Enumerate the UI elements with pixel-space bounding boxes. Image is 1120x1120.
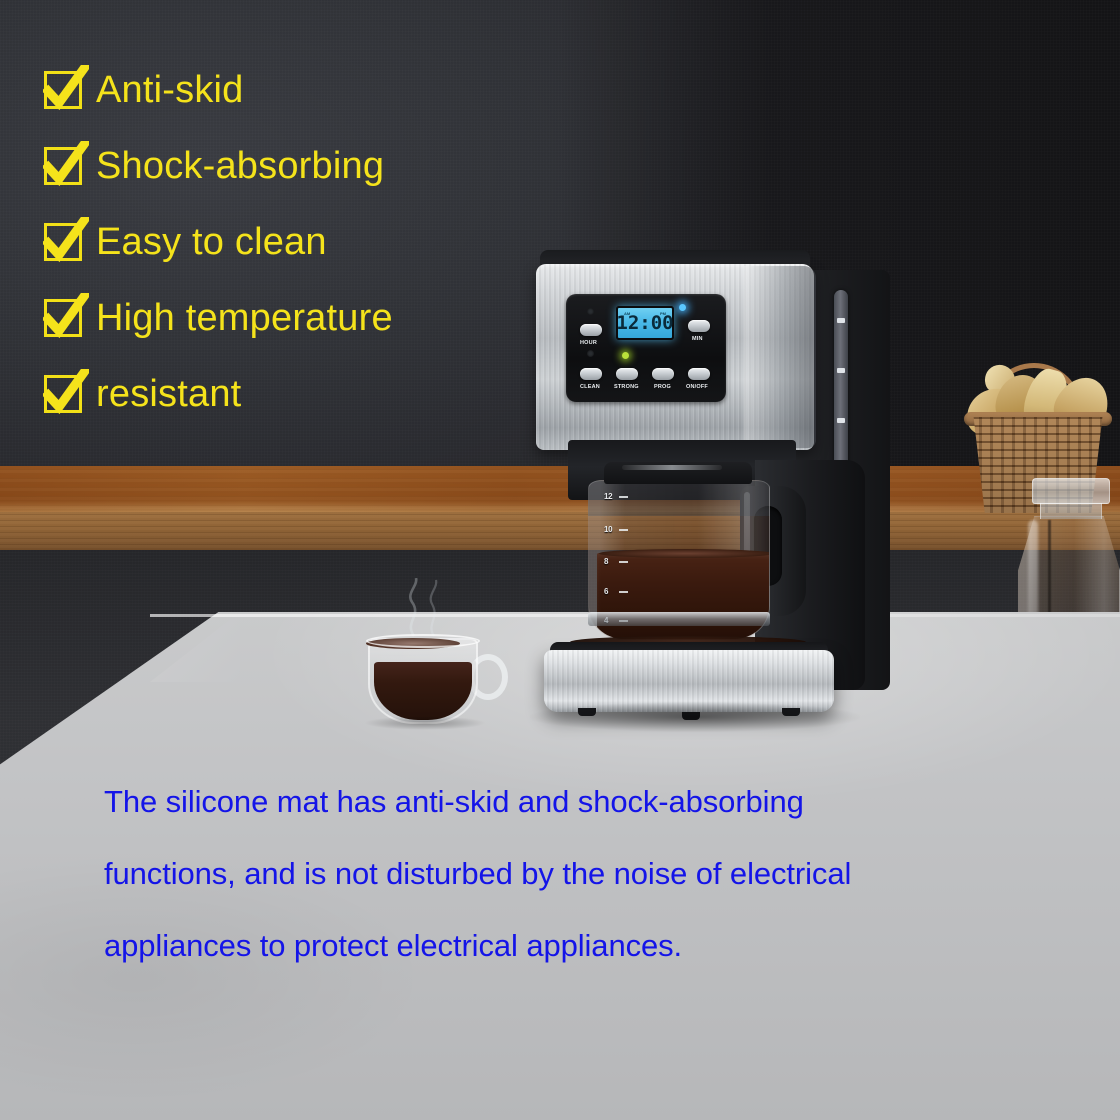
checkmark-icon[interactable] [44,223,82,261]
caption-line: appliances to protect electrical applian… [104,930,1104,961]
caption-line: The silicone mat has anti-skid and shock… [104,786,1104,817]
product-image-scene: AM PM 12:00 HOUR MIN CLEAN STRONG PROG O… [0,0,1120,1120]
feature-item[interactable]: resistant [44,356,514,432]
steam-icon [386,578,466,638]
feature-label: Shock-absorbing [96,147,384,185]
machine-head-side [744,266,816,448]
feature-label: Easy to clean [96,223,327,261]
lcd-time-value: 12:00 [616,314,673,333]
prog-button-label: PROG [654,384,671,390]
min-button[interactable] [688,320,710,332]
prog-button[interactable] [652,368,674,380]
gauge-tick [837,368,845,373]
feature-item[interactable]: High temperature [44,280,514,356]
checkmark-icon[interactable] [44,71,82,109]
feature-item[interactable]: Shock-absorbing [44,128,514,204]
gauge-tick [837,418,845,423]
carafe-mark-8: 8 [604,557,608,566]
hour-button-label: HOUR [580,340,597,346]
cup-shadow [364,716,486,730]
feature-label: resistant [96,375,241,413]
description-caption: The silicone mat has anti-skid and shock… [104,786,1104,1002]
cup-coffee [374,662,472,720]
checkmark-icon[interactable] [44,147,82,185]
cup-rim [366,634,480,648]
cup-glass-body [368,638,478,724]
carafe-mark-10: 10 [604,525,612,534]
coffee-cup[interactable] [360,620,510,730]
jar-lid [1032,478,1110,504]
clean-indicator-led [587,350,594,357]
strong-led [622,352,629,359]
lcd-display: AM PM 12:00 [616,306,674,340]
onoff-button-label: ON/OFF [686,384,708,390]
carafe-tick [619,591,628,593]
lcd-am-label: AM [624,311,630,316]
feature-item[interactable]: Easy to clean [44,204,514,280]
carafe-level-markings: 12 10 8 6 4 [604,492,630,632]
clean-button[interactable] [580,368,602,380]
feature-label: High temperature [96,299,393,337]
hour-button[interactable] [580,324,602,336]
onoff-button[interactable] [688,368,710,380]
carafe-tick [619,529,628,531]
power-led [679,304,686,311]
clean-button-label: CLEAN [580,384,600,390]
carafe-lid-highlight [622,465,722,470]
carafe-tick [619,496,628,498]
checkmark-icon[interactable] [44,375,82,413]
caption-line: functions, and is not disturbed by the n… [104,858,1104,889]
jar-neck [1040,503,1102,519]
control-panel: AM PM 12:00 HOUR MIN CLEAN STRONG PROG O… [566,294,726,402]
carafe-base-ring [588,612,770,626]
hour-indicator-led [587,308,594,315]
strong-button[interactable] [616,368,638,380]
feature-checklist: Anti-skid Shock-absorbing Easy to clean … [44,52,514,432]
carafe-mark-12: 12 [604,492,612,501]
carafe-tick [619,561,628,563]
min-button-label: MIN [692,336,703,342]
checkmark-icon[interactable] [44,299,82,337]
carafe-mark-6: 6 [604,587,608,596]
glass-carafe[interactable]: 12 10 8 6 4 [582,462,792,662]
feature-label: Anti-skid [96,71,244,109]
feature-item[interactable]: Anti-skid [44,52,514,128]
lcd-pm-label: PM [660,311,666,316]
machine-shadow [530,702,860,732]
coffee-maker: AM PM 12:00 HOUR MIN CLEAN STRONG PROG O… [530,250,890,750]
strong-button-label: STRONG [614,384,639,390]
gauge-tick [837,318,845,323]
